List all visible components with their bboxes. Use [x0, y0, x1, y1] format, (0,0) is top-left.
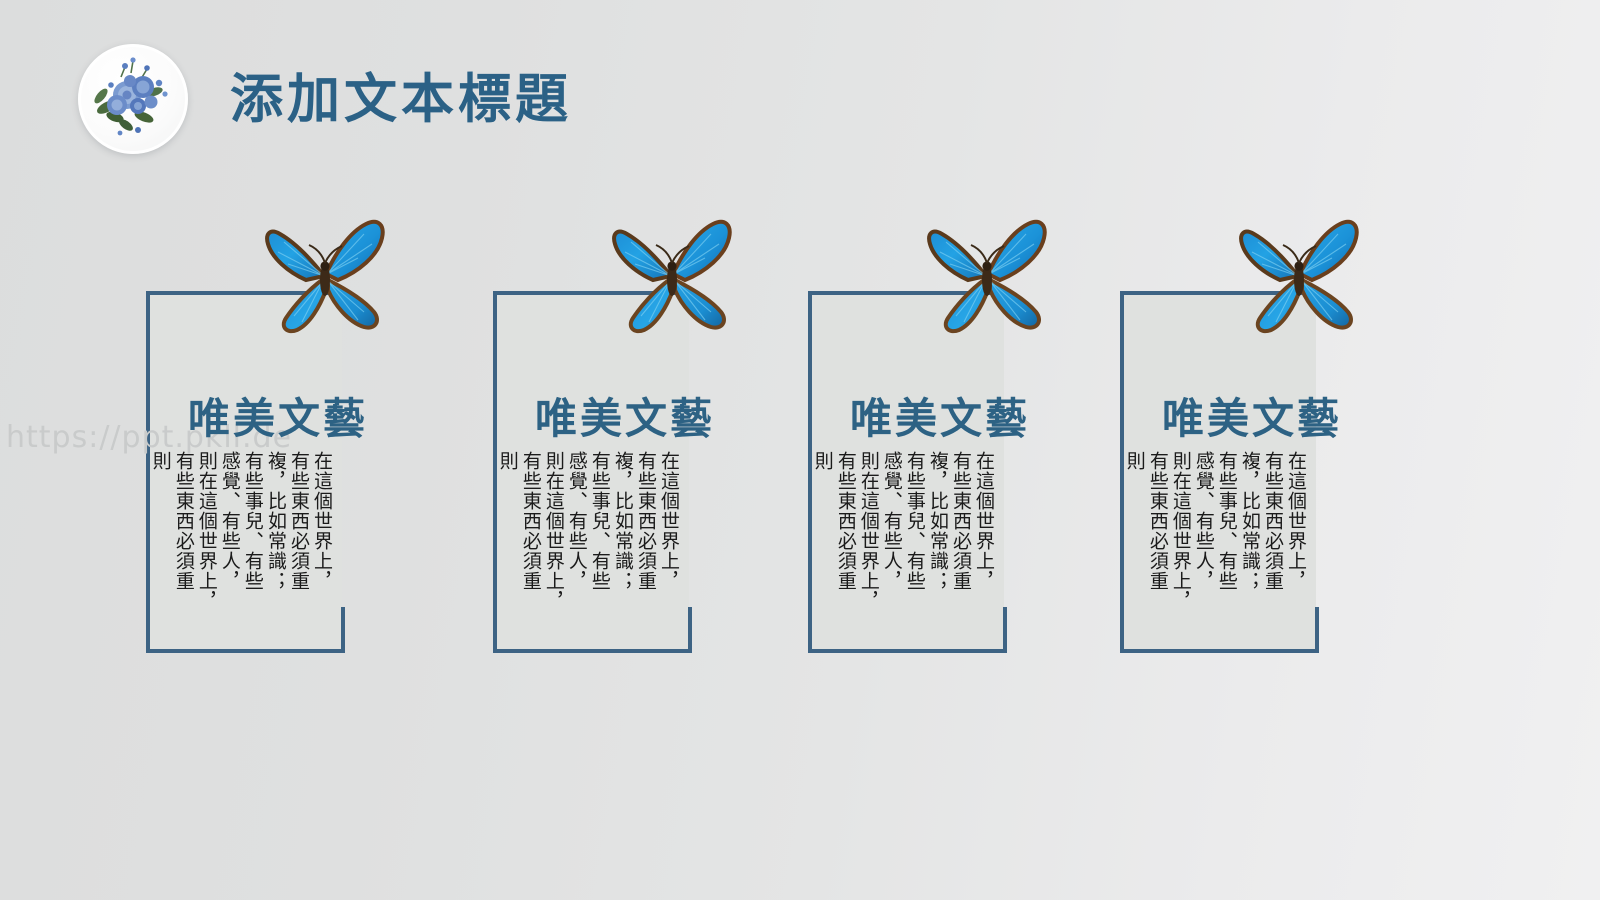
body-text-column: 感覺、有些人， — [1193, 451, 1215, 627]
body-text-column: 在這個世界上， — [658, 451, 680, 627]
body-text-column: 有些事兒、有些 — [589, 451, 611, 627]
feature-card-1[interactable]: 唯美文藝 在這個世界上，有些東西必須重複，比如常識；有些事兒、有些感覺、有些人，… — [146, 291, 345, 653]
body-text-column: 有些東西必須重 — [520, 451, 542, 627]
body-text-column: 有些東西必須重 — [1262, 451, 1284, 627]
card-heading: 唯美文藝 — [188, 385, 368, 446]
body-text-column: 有些事兒、有些 — [904, 451, 926, 627]
body-text-column: 則 — [150, 451, 172, 627]
body-text-column: 在這個世界上， — [311, 451, 333, 627]
body-text-column: 則 — [1124, 451, 1146, 627]
card-frame-bottom-edge — [808, 649, 1007, 653]
blue-butterfly-icon — [916, 214, 1058, 346]
body-text-column: 則在這個世界上， — [1170, 451, 1192, 627]
body-text-column: 複，比如常識； — [612, 451, 634, 627]
card-body-text: 在這個世界上，有些東西必須重複，比如常識；有些事兒、有些感覺、有些人，則在這個世… — [808, 451, 995, 631]
body-text-column: 感覺、有些人， — [566, 451, 588, 627]
page-title: 添加文本標題 — [230, 73, 572, 126]
feature-card-4[interactable]: 唯美文藝 在這個世界上，有些東西必須重複，比如常識；有些事兒、有些感覺、有些人，… — [1120, 291, 1319, 653]
card-frame-right-edge — [1315, 607, 1319, 653]
body-text-column: 有些東西必須重 — [1147, 451, 1169, 627]
body-text-column: 感覺、有些人， — [219, 451, 241, 627]
body-text-column: 則在這個世界上， — [196, 451, 218, 627]
body-text-column: 有些東西必須重 — [835, 451, 857, 627]
card-frame-bottom-edge — [146, 649, 345, 653]
body-text-column: 感覺、有些人， — [881, 451, 903, 627]
card-body-text: 在這個世界上，有些東西必須重複，比如常識；有些事兒、有些感覺、有些人，則在這個世… — [1120, 451, 1307, 631]
presentation-slide: https://ppt.pkll.de — [0, 0, 1600, 900]
card-body-text: 在這個世界上，有些東西必須重複，比如常識；有些事兒、有些感覺、有些人，則在這個世… — [493, 451, 680, 631]
body-text-column: 有些東西必須重 — [635, 451, 657, 627]
blue-butterfly-icon — [1228, 214, 1370, 346]
blue-butterfly-icon — [254, 214, 396, 346]
body-text-column: 有些事兒、有些 — [242, 451, 264, 627]
feature-card-3[interactable]: 唯美文藝 在這個世界上，有些東西必須重複，比如常識；有些事兒、有些感覺、有些人，… — [808, 291, 1007, 653]
body-text-column: 有些東西必須重 — [950, 451, 972, 627]
body-text-column: 有些東西必須重 — [173, 451, 195, 627]
body-text-column: 複，比如常識； — [1239, 451, 1261, 627]
body-text-column: 則在這個世界上， — [858, 451, 880, 627]
body-text-column: 有些東西必須重 — [288, 451, 310, 627]
card-heading: 唯美文藝 — [535, 385, 715, 446]
blue-butterfly-icon — [601, 214, 743, 346]
card-heading: 唯美文藝 — [1162, 385, 1342, 446]
body-text-column: 則在這個世界上， — [543, 451, 565, 627]
body-text-column: 在這個世界上， — [973, 451, 995, 627]
body-text-column: 則 — [497, 451, 519, 627]
card-body-text: 在這個世界上，有些東西必須重複，比如常識；有些事兒、有些感覺、有些人，則在這個世… — [146, 451, 333, 631]
card-frame-bottom-edge — [493, 649, 692, 653]
body-text-column: 在這個世界上， — [1285, 451, 1307, 627]
feature-card-2[interactable]: 唯美文藝 在這個世界上，有些東西必須重複，比如常識；有些事兒、有些感覺、有些人，… — [493, 291, 692, 653]
body-text-column: 有些事兒、有些 — [1216, 451, 1238, 627]
floral-bouquet-icon — [78, 44, 188, 154]
body-text-column: 複，比如常識； — [927, 451, 949, 627]
card-heading: 唯美文藝 — [850, 385, 1030, 446]
body-text-column: 複，比如常識； — [265, 451, 287, 627]
card-frame-bottom-edge — [1120, 649, 1319, 653]
card-frame-right-edge — [688, 607, 692, 653]
slide-header: 添加文本標題 — [78, 44, 572, 154]
card-frame-right-edge — [1003, 607, 1007, 653]
card-frame-right-edge — [341, 607, 345, 653]
body-text-column: 則 — [812, 451, 834, 627]
